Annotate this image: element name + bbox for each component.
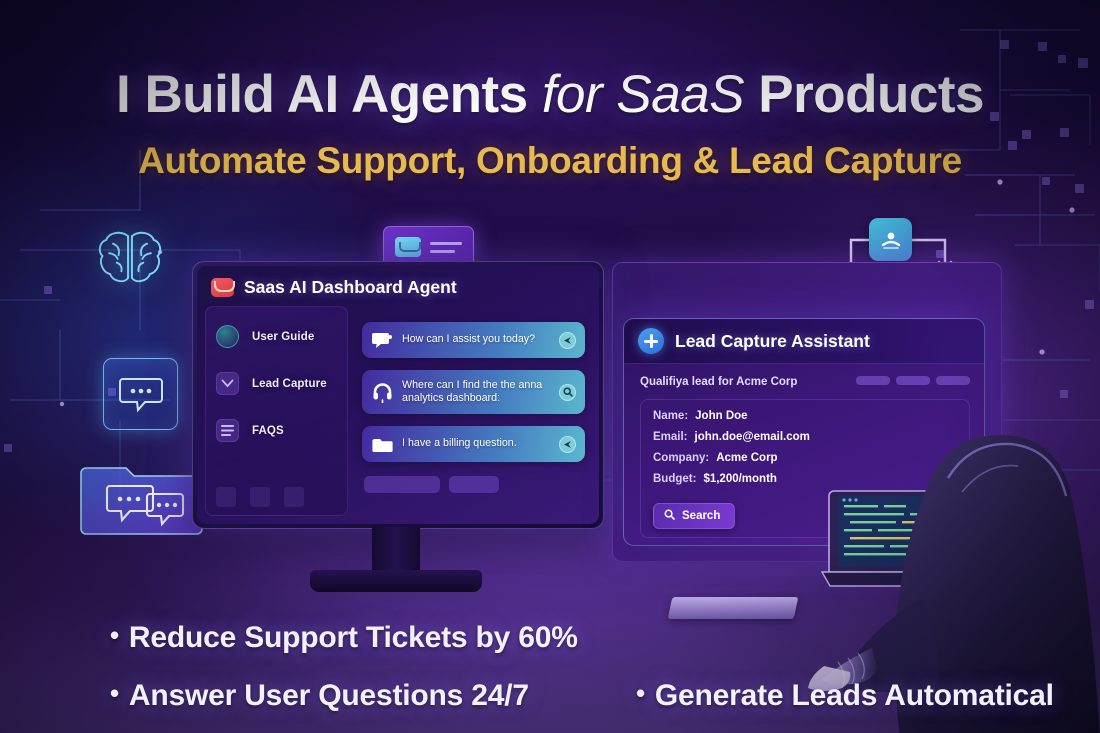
magnifier-icon [664,509,675,523]
bullet-dot-icon: • [636,678,645,709]
headline-part2: Products [758,65,984,124]
sidebar-decoration [216,487,339,507]
composer-send-placeholder[interactable] [449,476,499,493]
headline-italic: for SaaS [542,65,744,124]
bullet-dot-icon: • [110,620,119,651]
chat-message-row[interactable]: How can I assist you today? [362,322,585,358]
inbox-icon [869,218,912,261]
keyboard [668,597,799,619]
benefit-item: •Generate Leads Automatical [636,678,1054,713]
circle-icon [216,325,239,348]
field-label: Company: [653,452,709,464]
chat-panel: How can I assist you today? [348,306,593,516]
chat-message-text: I have a billing question. [402,437,550,450]
send-icon[interactable] [559,332,576,349]
headline-part1: I Build AI Agents [116,65,528,124]
chevron-down-icon [216,372,239,395]
benefit-item: •Reduce Support Tickets by 60% [110,620,578,655]
dashboard-sidebar: User Guide Lead Capture FAQS [205,306,348,516]
sidebar-item-label: FAQS [252,425,284,437]
headset-icon [371,381,393,403]
chat-message-row[interactable]: I have a billing question. [362,426,585,462]
chat-composer[interactable] [362,476,585,493]
list-icon [216,419,239,442]
benefit-text: Answer User Questions 24/7 [129,679,529,712]
monitor-stand-neck [372,527,420,575]
sidebar-item-faqs[interactable]: FAQS [216,419,347,442]
chat-card-icon [103,358,178,430]
sidebar-item-label: Lead Capture [252,378,327,390]
envelope-icon [395,237,421,257]
dashboard-screen: Saas AI Dashboard Agent User Guide Lead … [197,266,599,524]
chat-message-text: Where can I find the the anna analytics … [402,379,550,406]
chat-folder-icon [80,452,205,540]
header-placeholder-pills [856,376,970,385]
placeholder-lines [430,242,462,253]
chat-bubble-icon [371,329,393,351]
dashboard-title: Saas AI Dashboard Agent [244,277,457,298]
lead-capture-header: Lead Capture Assistant [624,319,984,364]
envelope-icon [211,278,234,297]
dashboard-monitor: Saas AI Dashboard Agent User Guide Lead … [192,261,604,529]
search-button-label: Search [682,510,720,522]
chat-message-row[interactable]: Where can I find the the anna analytics … [362,370,585,414]
sidebar-item-label: User Guide [252,331,314,343]
benefit-item: •Answer User Questions 24/7 [110,678,529,713]
send-icon[interactable] [559,436,576,453]
brain-icon [92,226,168,288]
chat-message-text: How can I assist you today? [402,333,550,346]
field-value: John Doe [695,410,747,422]
field-label: Budget: [653,473,696,485]
page-subtitle: Automate Support, Onboarding & Lead Capt… [0,140,1100,182]
bullet-dot-icon: • [110,678,119,709]
field-value: $1,200/month [703,473,777,485]
search-icon[interactable] [559,384,576,401]
benefit-text: Generate Leads Automatical [655,679,1054,712]
field-label: Name: [653,410,688,422]
lead-field-row: Name: John Doe [653,410,957,422]
page-title: I Build AI Agents for SaaS Products [0,64,1100,125]
plus-circle-icon [638,328,664,354]
composer-input-placeholder[interactable] [364,476,440,493]
field-value: Acme Corp [716,452,777,464]
sidebar-item-lead-capture[interactable]: Lead Capture [216,372,347,395]
benefit-text: Reduce Support Tickets by 60% [129,621,578,654]
poster-canvas: I Build AI Agents for SaaS Products Auto… [0,0,1100,733]
lead-capture-title: Lead Capture Assistant [675,331,870,352]
search-button[interactable]: Search [653,503,735,529]
field-label: Email: [653,431,688,443]
dashboard-header: Saas AI Dashboard Agent [197,266,599,306]
sidebar-item-user-guide[interactable]: User Guide [216,325,347,348]
monitor-stand-base [310,570,482,592]
folder-icon [371,433,393,455]
